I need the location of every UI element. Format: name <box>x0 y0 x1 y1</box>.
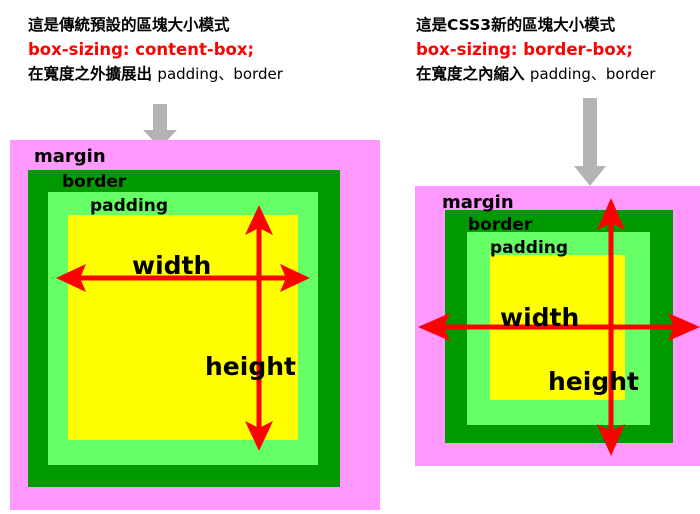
height-label: height <box>205 352 296 381</box>
width-label: width <box>132 251 211 280</box>
height-label: height <box>548 367 639 396</box>
border-label: border <box>468 215 532 235</box>
width-label: width <box>500 303 579 332</box>
diagram-canvas: 這是傳統預設的區塊大小模式 box-sizing: content-box; 在… <box>0 0 700 514</box>
caption-left-line3-prefix: 在寬度之外擴展出 <box>28 65 152 83</box>
caption-left-line1: 這是傳統預設的區塊大小模式 <box>28 18 283 34</box>
padding-label: padding <box>90 196 168 216</box>
down-arrow-icon <box>572 98 608 186</box>
caption-right-line3-prefix: 在寬度之內縮入 <box>416 65 525 83</box>
margin-label: margin <box>442 192 514 213</box>
caption-content-box: 這是傳統預設的區塊大小模式 box-sizing: content-box; 在… <box>28 18 283 83</box>
double-headed-vertical-arrow-icon <box>244 205 274 451</box>
caption-right-line3-mono: padding、border <box>530 65 655 83</box>
caption-right-line3: 在寬度之內縮入 padding、border <box>416 67 655 83</box>
caption-left-line3-mono: padding、border <box>157 65 282 83</box>
margin-label: margin <box>34 146 106 167</box>
caption-right-code: box-sizing: border-box; <box>416 42 655 59</box>
caption-left-code: box-sizing: content-box; <box>28 42 283 59</box>
border-label: border <box>62 172 126 192</box>
caption-right-line1: 這是CSS3新的區塊大小模式 <box>416 18 655 34</box>
padding-label: padding <box>490 238 568 258</box>
caption-left-line3: 在寬度之外擴展出 padding、border <box>28 67 283 83</box>
double-headed-vertical-arrow-icon <box>596 198 626 456</box>
caption-border-box: 這是CSS3新的區塊大小模式 box-sizing: border-box; 在… <box>416 18 655 83</box>
